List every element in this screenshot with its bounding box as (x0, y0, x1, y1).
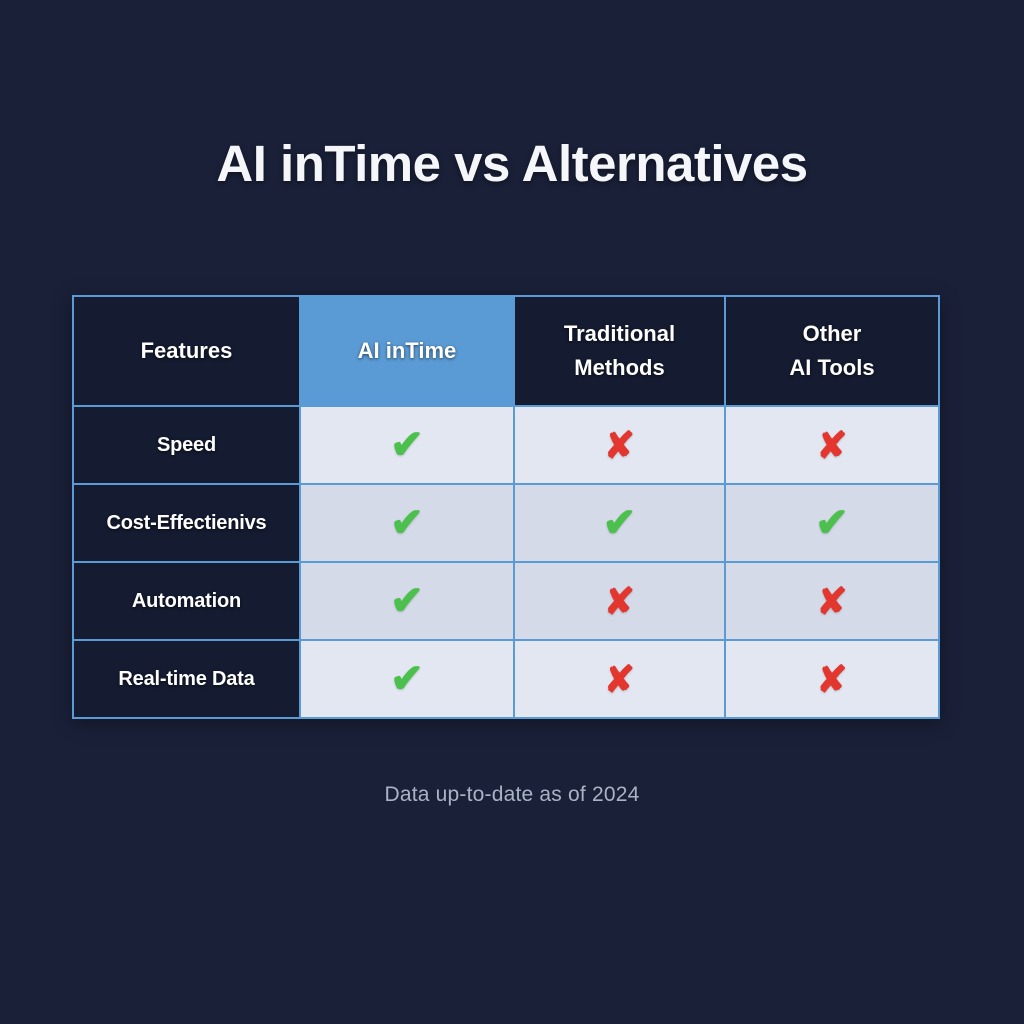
row-label-real-time-data-text: Real-time Data (118, 668, 254, 691)
cell-speed-traditional-methods: ✘ (513, 407, 724, 483)
cell-cost-other-ai-tools: ✔ (724, 485, 938, 561)
row-label-cost-effectiveness: Cost-Effectienivs (74, 485, 299, 561)
traditional-line-1: Traditional (564, 321, 675, 346)
column-header-ai-intime-label: AI inTime (358, 334, 457, 368)
traditional-line-2: Methods (574, 355, 664, 380)
row-label-real-time-data: Real-time Data (74, 641, 299, 717)
cell-automation-other-ai-tools: ✘ (724, 563, 938, 639)
comparison-table: Features AI inTime Traditional Methods O… (72, 295, 940, 719)
table-row: Cost-Effectienivs ✔ ✔ ✔ (74, 483, 938, 561)
other-line-2: AI Tools (789, 355, 874, 380)
cell-realtime-other-ai-tools: ✘ (724, 641, 938, 717)
row-label-cost-effectiveness-text: Cost-Effectienivs (106, 512, 266, 535)
column-header-other-ai-tools: Other AI Tools (724, 297, 938, 405)
check-icon: ✔ (390, 659, 424, 699)
other-line-1: Other (803, 321, 862, 346)
column-header-other-ai-tools-label: Other AI Tools (789, 317, 874, 385)
table-header-row: Features AI inTime Traditional Methods O… (74, 297, 938, 405)
cell-realtime-traditional-methods: ✘ (513, 641, 724, 717)
cross-icon: ✘ (817, 427, 848, 464)
check-icon: ✔ (390, 581, 424, 621)
column-header-traditional-methods-label: Traditional Methods (564, 317, 675, 385)
column-header-features-label: Features (141, 334, 233, 368)
table-row: Automation ✔ ✘ ✘ (74, 561, 938, 639)
row-label-automation-text: Automation (132, 590, 241, 613)
row-label-speed-text: Speed (157, 434, 216, 457)
cross-icon: ✘ (604, 583, 635, 620)
cross-icon: ✘ (817, 661, 848, 698)
cross-icon: ✘ (817, 583, 848, 620)
cell-cost-ai-intime: ✔ (299, 485, 513, 561)
table-row: Speed ✔ ✘ ✘ (74, 405, 938, 483)
page-title: AI inTime vs Alternatives (0, 134, 1024, 193)
cross-icon: ✘ (604, 427, 635, 464)
check-icon: ✔ (815, 503, 849, 543)
comparison-infographic: AI inTime vs Alternatives Features AI in… (0, 0, 1024, 1024)
table-row: Real-time Data ✔ ✘ ✘ (74, 639, 938, 717)
column-header-ai-intime: AI inTime (299, 297, 513, 405)
row-label-speed: Speed (74, 407, 299, 483)
cross-icon: ✘ (604, 661, 635, 698)
column-header-traditional-methods: Traditional Methods (513, 297, 724, 405)
cell-realtime-ai-intime: ✔ (299, 641, 513, 717)
cell-automation-traditional-methods: ✘ (513, 563, 724, 639)
check-icon: ✔ (390, 425, 424, 465)
check-icon: ✔ (603, 503, 637, 543)
cell-automation-ai-intime: ✔ (299, 563, 513, 639)
row-label-automation: Automation (74, 563, 299, 639)
column-header-features: Features (74, 297, 299, 405)
check-icon: ✔ (390, 503, 424, 543)
cell-speed-other-ai-tools: ✘ (724, 407, 938, 483)
cell-speed-ai-intime: ✔ (299, 407, 513, 483)
footer-note: Data up-to-date as of 2024 (0, 783, 1024, 807)
cell-cost-traditional-methods: ✔ (513, 485, 724, 561)
